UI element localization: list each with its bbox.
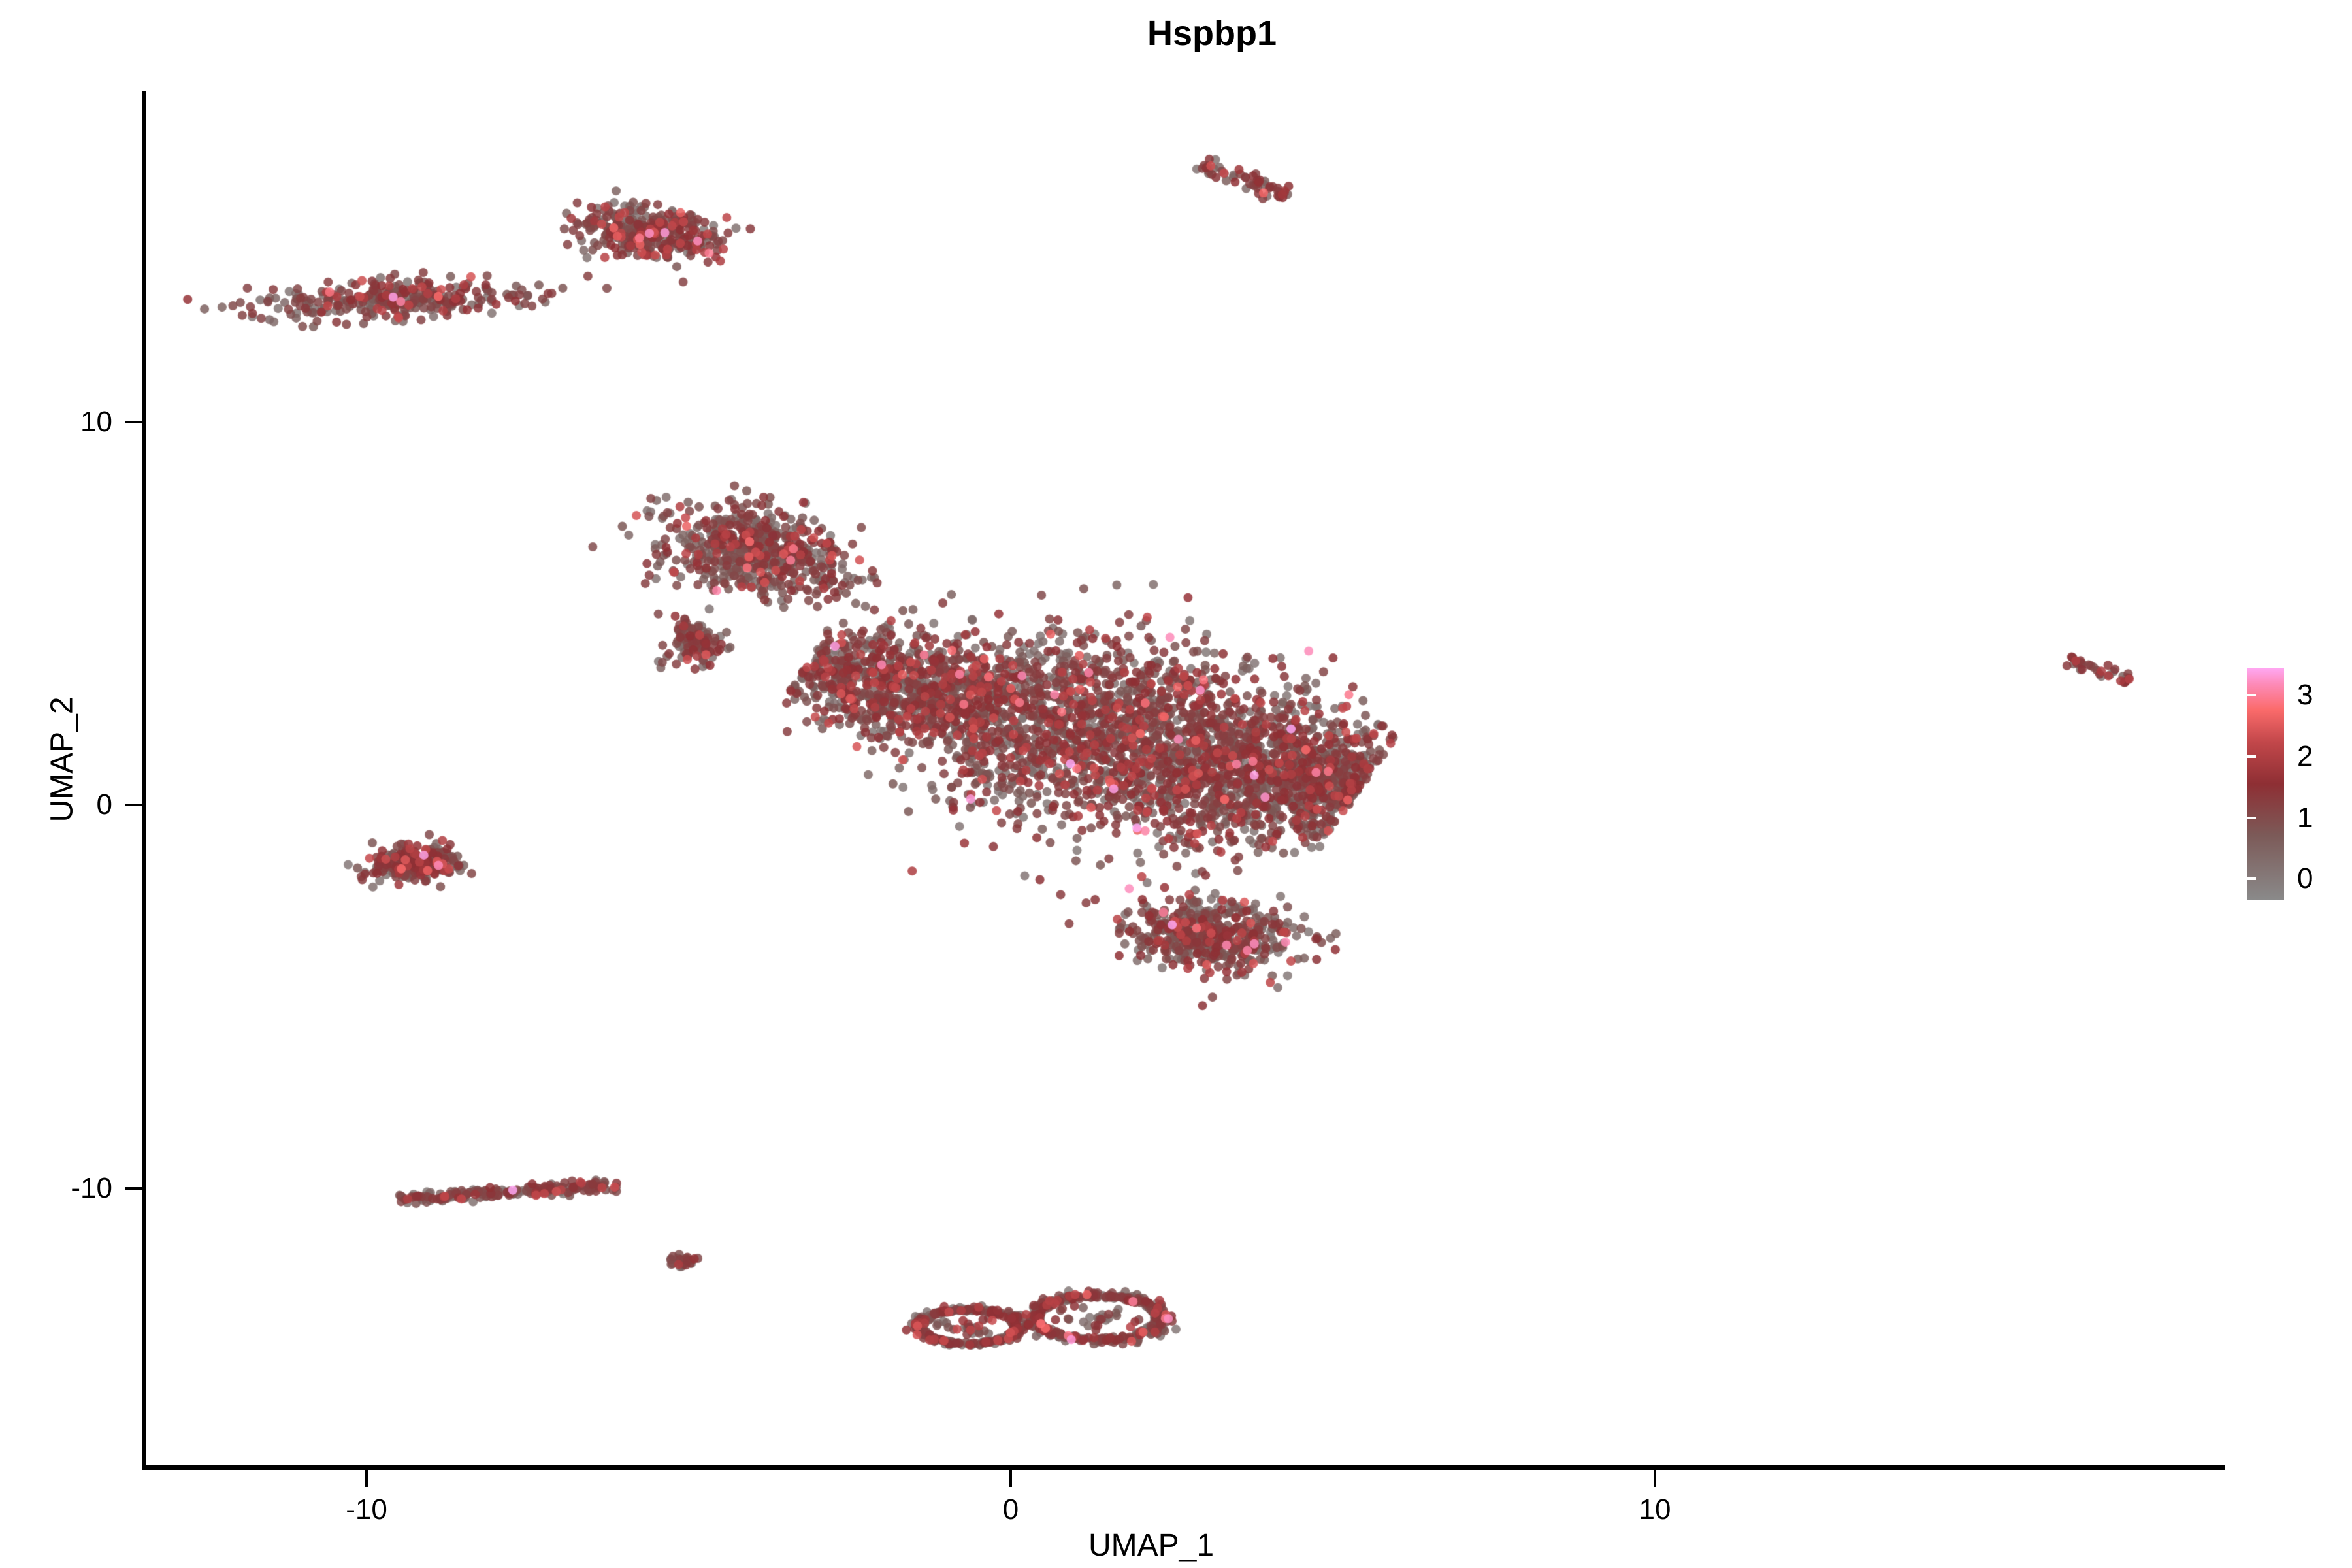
umap-feature-plot: Hspbp1 -10010 -10010 UMAP_1 UMAP_2 0123 bbox=[0, 0, 2352, 1568]
legend-tick-mark bbox=[2247, 877, 2256, 880]
legend-tick-mark bbox=[2247, 694, 2256, 696]
color-legend: 0123 bbox=[2247, 668, 2339, 900]
legend-tick-mark bbox=[2247, 817, 2256, 819]
scatter-canvas bbox=[145, 91, 2157, 1465]
x-tick-label: -10 bbox=[346, 1494, 387, 1526]
legend-tick-mark bbox=[2247, 755, 2256, 758]
x-axis-title: UMAP_1 bbox=[145, 1527, 2157, 1563]
x-axis-line bbox=[142, 1465, 2225, 1470]
legend-tick-label: 0 bbox=[2297, 862, 2313, 895]
y-tick-mark bbox=[125, 1187, 142, 1190]
x-tick-mark bbox=[1654, 1470, 1656, 1487]
y-axis-title: UMAP_2 bbox=[44, 74, 80, 1446]
plot-panel bbox=[145, 91, 2157, 1465]
legend-tick-label: 3 bbox=[2297, 679, 2313, 711]
x-tick-label: 0 bbox=[1003, 1494, 1019, 1526]
legend-tick-label: 1 bbox=[2297, 802, 2313, 834]
legend-tick-mark bbox=[2330, 817, 2339, 819]
y-axis-line bbox=[142, 91, 146, 1470]
page-title: Hspbp1 bbox=[0, 13, 2352, 54]
legend-tick-mark bbox=[2330, 755, 2339, 758]
x-tick-label: 10 bbox=[1639, 1494, 1671, 1526]
y-tick-mark bbox=[125, 421, 142, 423]
legend-tick-label: 2 bbox=[2297, 740, 2313, 773]
legend-tick-mark bbox=[2330, 877, 2339, 880]
legend-tick-mark bbox=[2330, 694, 2339, 696]
legend-colorbar bbox=[2247, 668, 2284, 900]
x-tick-mark bbox=[365, 1470, 368, 1487]
y-tick-mark bbox=[125, 804, 142, 806]
x-tick-mark bbox=[1009, 1470, 1012, 1487]
